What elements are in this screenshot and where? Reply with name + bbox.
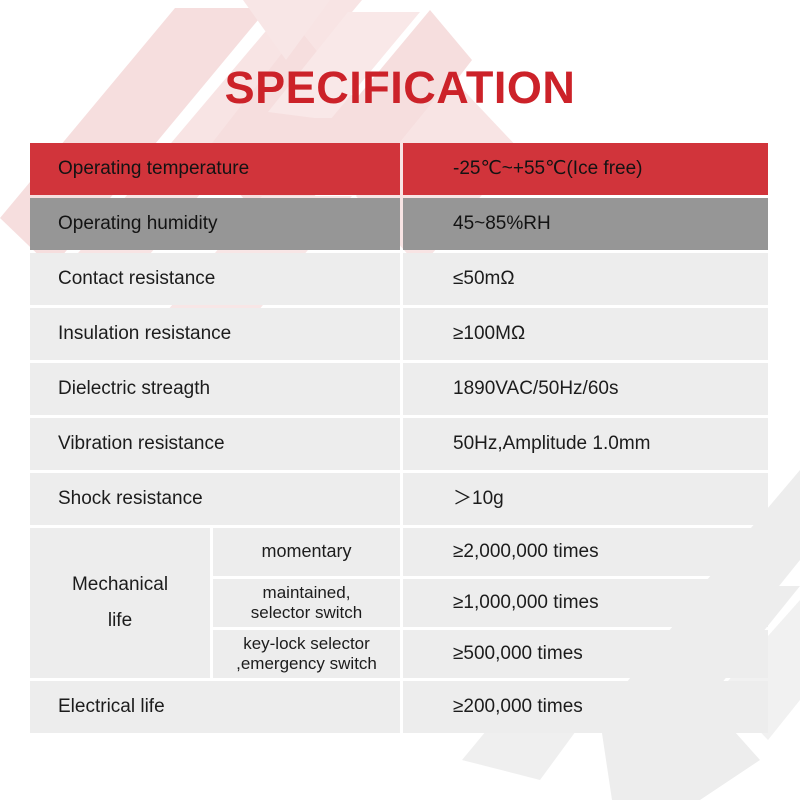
row-value: -25℃~+55℃(Ice free)	[403, 143, 768, 195]
row-label: Vibration resistance	[30, 418, 400, 470]
row-label: Contact resistance	[30, 253, 400, 305]
table-row: key-lock selector ,emergency switch ≥500…	[213, 630, 768, 678]
row-value: ＞10g	[403, 473, 768, 525]
subrow-name: key-lock selector ,emergency switch	[213, 630, 400, 678]
row-value: 50Hz,Amplitude 1.0mm	[403, 418, 768, 470]
mechanical-life-subrows: momentary ≥2,000,000 times maintained, s…	[213, 528, 768, 678]
subrow-value: ≥1,000,000 times	[403, 579, 768, 627]
subrow-name: maintained, selector switch	[213, 579, 400, 627]
subrow-name-line2: ,emergency switch	[236, 654, 377, 674]
subrow-name-line2: selector switch	[251, 603, 362, 623]
subrow-value: ≥500,000 times	[403, 630, 768, 678]
page-title: SPECIFICATION	[0, 62, 800, 114]
row-value: ≥100MΩ	[403, 308, 768, 360]
subrow-value: ≥2,000,000 times	[403, 528, 768, 576]
subrow-name-line1: maintained,	[251, 583, 362, 603]
row-label: Operating humidity	[30, 198, 400, 250]
mechanical-life-group: Mechanical life momentary ≥2,000,000 tim…	[30, 528, 768, 678]
table-row: Dielectric streagth 1890VAC/50Hz/60s	[30, 363, 768, 415]
subrow-name-line1: momentary	[261, 541, 351, 563]
row-label: Operating temperature	[30, 143, 400, 195]
specification-table: Operating temperature -25℃~+55℃(Ice free…	[30, 143, 768, 736]
table-row: Vibration resistance 50Hz,Amplitude 1.0m…	[30, 418, 768, 470]
row-value: ≤50mΩ	[403, 253, 768, 305]
subrow-name-line1: key-lock selector	[236, 634, 377, 654]
table-row: Insulation resistance ≥100MΩ	[30, 308, 768, 360]
row-label: Insulation resistance	[30, 308, 400, 360]
table-row: Electrical life ≥200,000 times	[30, 681, 768, 733]
mechanical-life-label: Mechanical life	[30, 528, 210, 678]
table-row: momentary ≥2,000,000 times	[213, 528, 768, 576]
table-row: maintained, selector switch ≥1,000,000 t…	[213, 579, 768, 627]
mechanical-life-label-line2: life	[108, 603, 132, 639]
specification-page: SPECIFICATION Operating temperature -25℃…	[0, 0, 800, 800]
row-value: ≥200,000 times	[403, 681, 768, 733]
table-row: Operating temperature -25℃~+55℃(Ice free…	[30, 143, 768, 195]
row-label: Shock resistance	[30, 473, 400, 525]
mechanical-life-label-line1: Mechanical	[72, 567, 168, 603]
row-label: Electrical life	[30, 681, 400, 733]
table-row: Contact resistance ≤50mΩ	[30, 253, 768, 305]
table-row: Shock resistance ＞10g	[30, 473, 768, 525]
table-row: Operating humidity 45~85%RH	[30, 198, 768, 250]
subrow-name: momentary	[213, 528, 400, 576]
row-value: 1890VAC/50Hz/60s	[403, 363, 768, 415]
row-label: Dielectric streagth	[30, 363, 400, 415]
row-value: 45~85%RH	[403, 198, 768, 250]
